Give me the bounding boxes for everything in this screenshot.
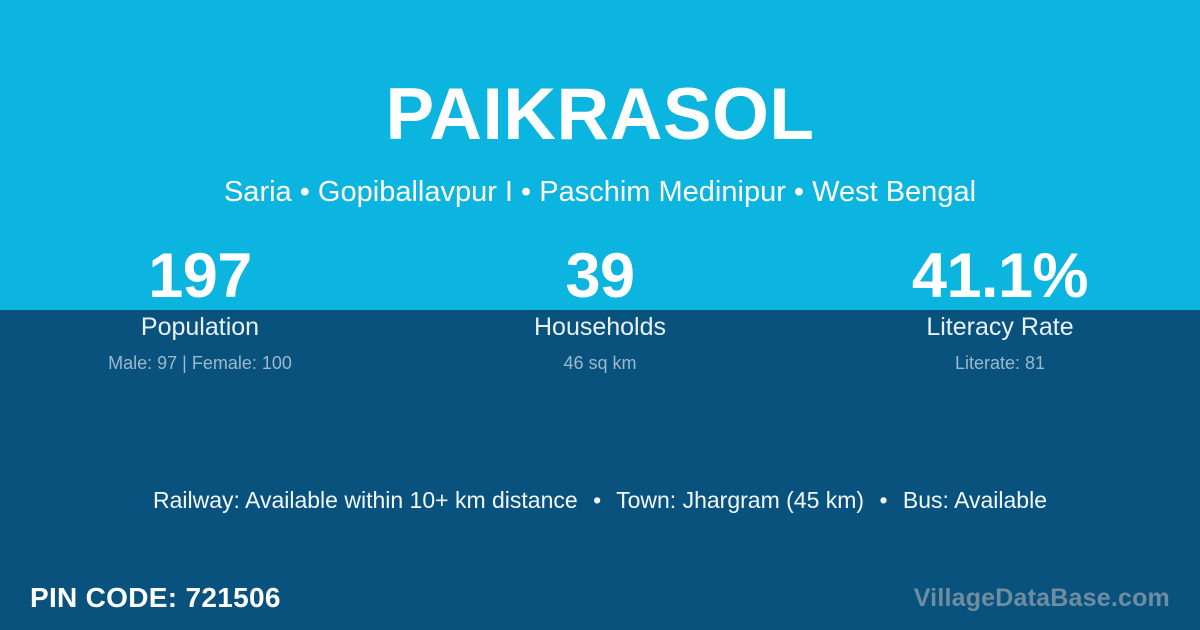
- stat-sub-literacy-rate: Literate: 81: [800, 352, 1200, 374]
- breadcrumb: Saria • Gopiballavpur I • Paschim Medini…: [0, 177, 1200, 209]
- page-title: PAIKRASOL: [0, 78, 1200, 151]
- header-block: PAIKRASOL Saria • Gopiballavpur I • Pasc…: [0, 0, 1200, 209]
- stat-value-households: 39: [400, 243, 800, 310]
- site-watermark: VillageDataBase.com: [914, 583, 1170, 613]
- stat-households: 39 Households 46 sq km: [400, 243, 800, 374]
- amenity-town: Town: Jhargram (45 km): [616, 487, 864, 513]
- stat-literacy-rate: 41.1% Literacy Rate Literate: 81: [800, 243, 1200, 374]
- stat-label-population: Population: [0, 312, 400, 342]
- village-info-card: PAIKRASOL Saria • Gopiballavpur I • Pasc…: [0, 0, 1200, 630]
- stat-label-households: Households: [400, 312, 800, 342]
- amenity-bus: Bus: Available: [903, 487, 1047, 513]
- stat-sub-households: 46 sq km: [400, 352, 800, 374]
- amenities-line: Railway: Available within 10+ km distanc…: [0, 485, 1200, 515]
- amenity-separator-2: •: [870, 485, 896, 515]
- amenity-separator-1: •: [584, 485, 610, 515]
- amenity-railway: Railway: Available within 10+ km distanc…: [153, 487, 578, 513]
- stat-label-literacy-rate: Literacy Rate: [800, 312, 1200, 342]
- stat-sub-population: Male: 97 | Female: 100: [0, 352, 400, 374]
- stat-value-population: 197: [0, 243, 400, 310]
- footer-bar: PIN CODE: 721506 VillageDataBase.com: [0, 566, 1200, 630]
- stat-population: 197 Population Male: 97 | Female: 100: [0, 243, 400, 374]
- pin-code-label: PIN CODE: 721506: [30, 582, 281, 614]
- stat-value-literacy-rate: 41.1%: [800, 243, 1200, 310]
- stats-row: 197 Population Male: 97 | Female: 100 39…: [0, 243, 1200, 374]
